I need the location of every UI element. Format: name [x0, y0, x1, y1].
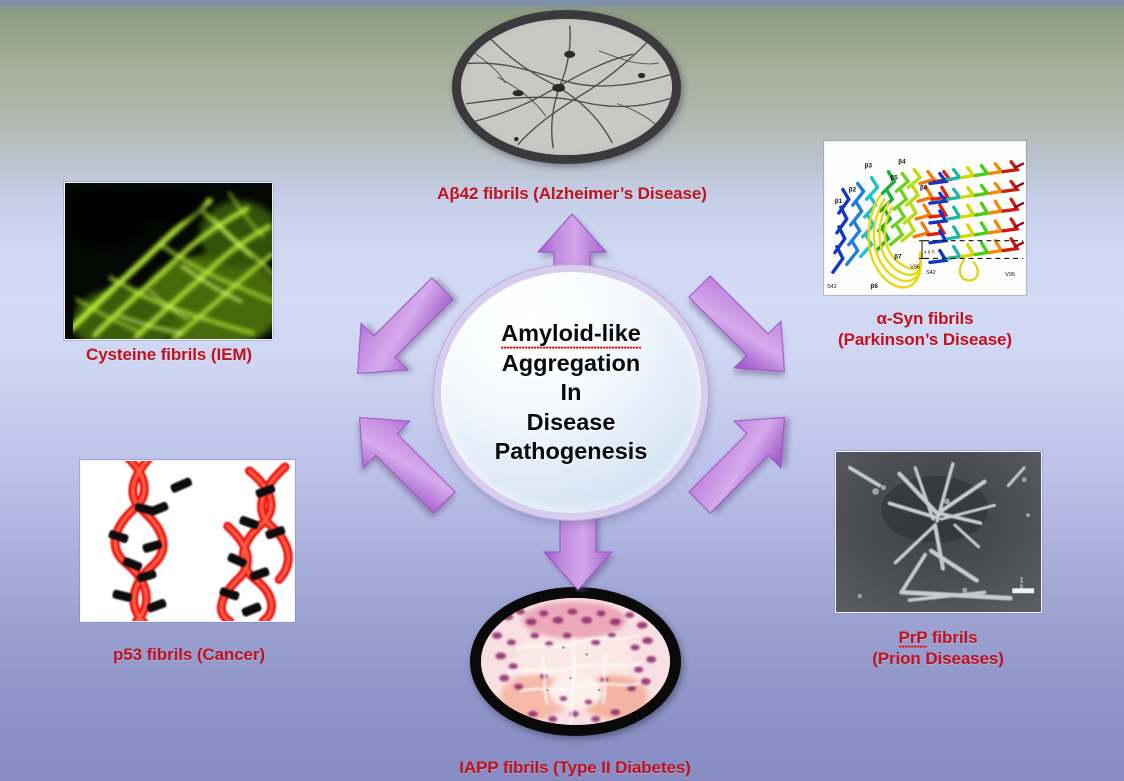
label-abeta42: Aβ42 fibrils (Alzheimer’s Disease) — [352, 183, 792, 204]
asyn-label-spacing: 4.9 Å — [924, 249, 936, 255]
label-cysteine: Cysteine fibrils (IEM) — [38, 344, 300, 365]
svg-text:500 nm: 500 nm — [1019, 577, 1024, 592]
arrow-down — [528, 512, 628, 592]
image-cysteine-fibrils — [64, 182, 273, 340]
asyn-label-b5: β5 — [890, 175, 898, 182]
asyn-label-b3: β3 — [865, 163, 873, 170]
label-asyn: α-Syn fibrils (Parkinson’s Disease) — [805, 308, 1045, 350]
asyn-label-s42-right: S42 — [926, 270, 936, 276]
image-abeta42-fibrils — [452, 10, 681, 164]
label-p53: p53 fibrils (Cancer) — [58, 644, 320, 665]
label-iapp: IAPP fibrils (Type II Diabetes) — [355, 757, 795, 778]
asyn-label-b1: β1 — [835, 198, 843, 205]
central-hub: Amyloid-likeAggregationInDiseasePathogen… — [434, 265, 708, 520]
image-iapp-fibrils — [470, 587, 681, 736]
asyn-label-b7: β7 — [894, 253, 902, 260]
central-hub-text: Amyloid-likeAggregationInDiseasePathogen… — [495, 319, 648, 466]
asyn-label-s42-left: S42 — [827, 284, 837, 290]
asyn-label-v95-left: V95 — [910, 264, 920, 270]
asyn-label-b4: β4 — [898, 159, 906, 166]
asyn-label-b6: β6 — [871, 283, 879, 290]
asyn-label-b2: β2 — [849, 186, 857, 193]
image-prp-fibrils: 500 nm — [835, 451, 1042, 613]
asyn-label-b8: β8 — [920, 184, 928, 191]
image-p53-fibrils — [80, 460, 295, 622]
slide-canvas: Amyloid-likeAggregationInDiseasePathogen… — [0, 0, 1124, 781]
asyn-label-v95-right: V95 — [1005, 272, 1015, 278]
label-prp: PrP fibrils(Prion Diseases) — [818, 627, 1058, 669]
image-asyn-structure: β1 β2 β3 β4 β5 β6 β7 β8 S42 S42 V95 V95 … — [824, 141, 1026, 295]
